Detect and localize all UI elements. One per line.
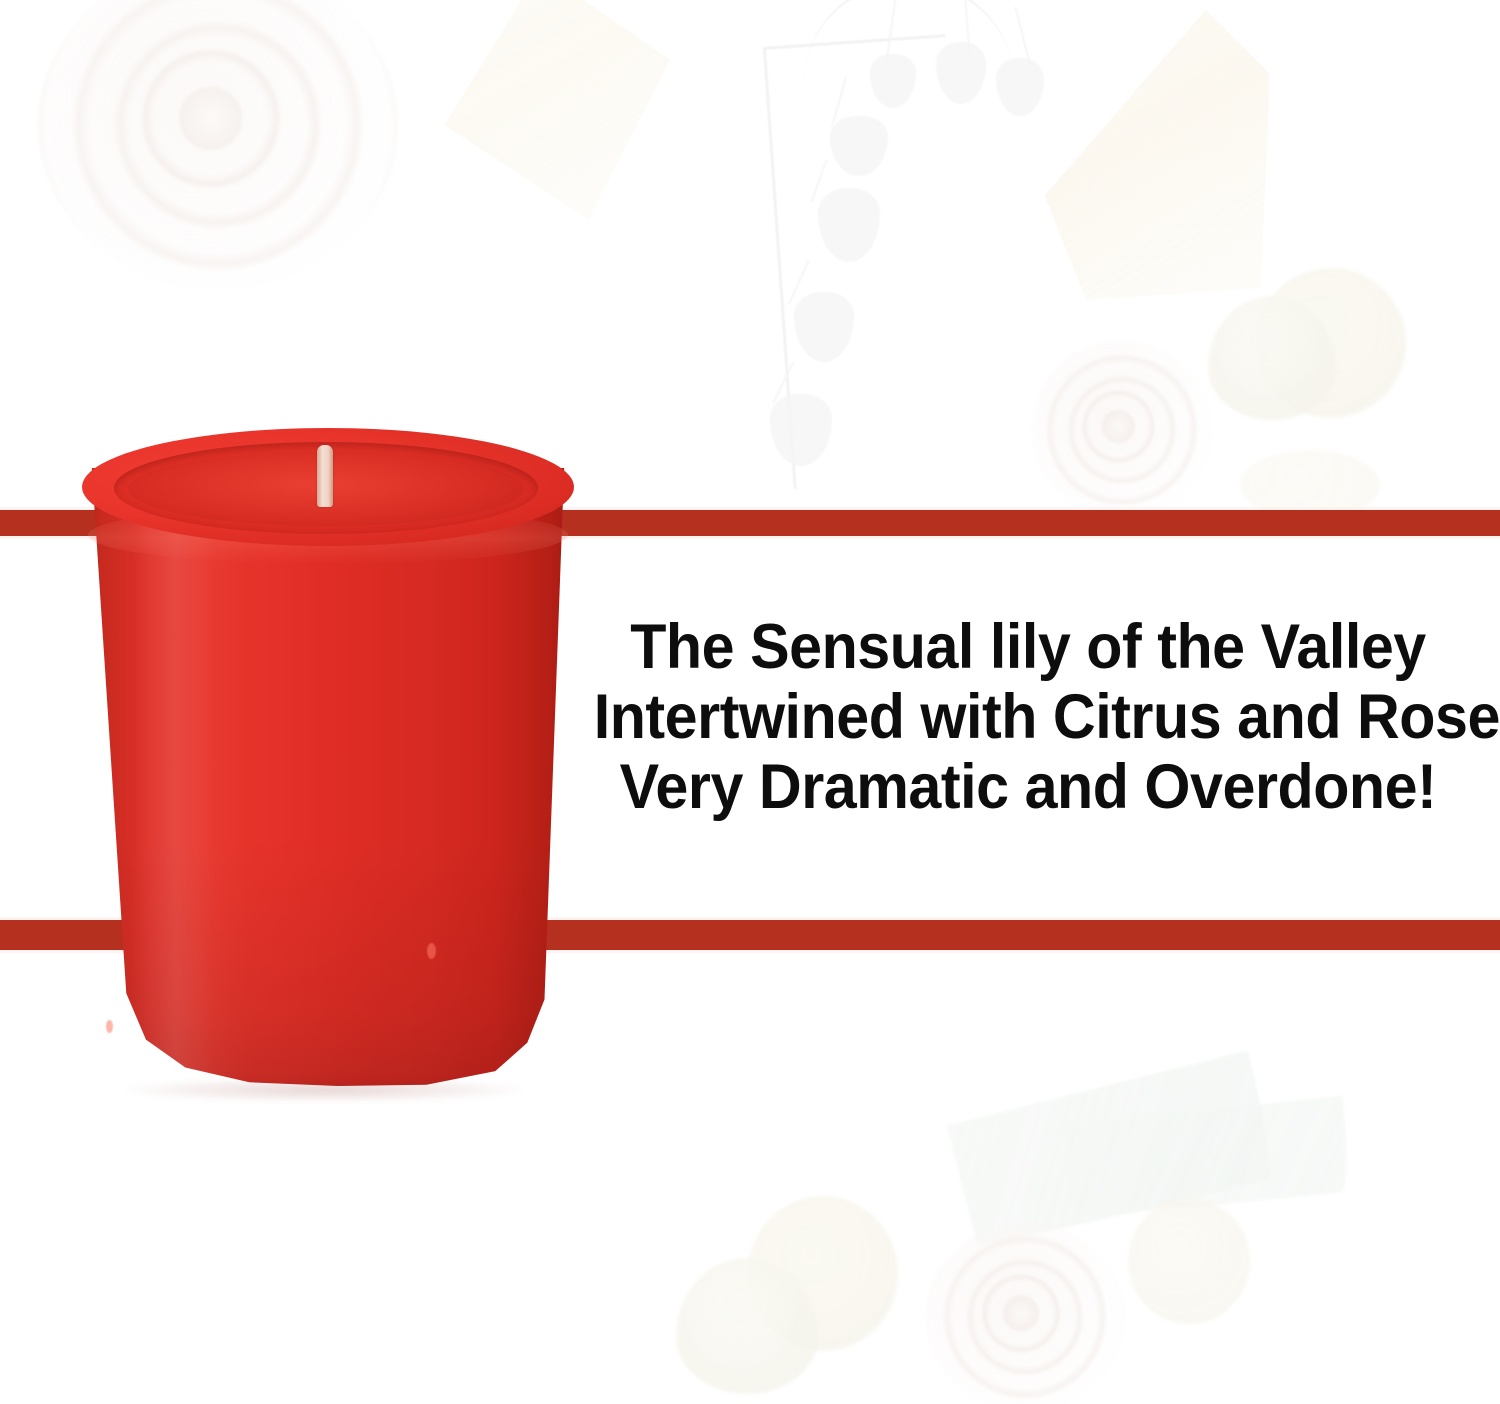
rose-watermark-top-left: [38, 0, 398, 290]
citrus-cup-watermark-right: [1208, 296, 1336, 420]
citrus-round-watermark-bottom: [748, 1196, 898, 1351]
caption-line-1: The Sensual lily of the Valley: [594, 612, 1463, 682]
caption-line-2: Intertwined with Citrus and Rose.: [594, 682, 1463, 752]
lily-leaf-watermark-bottom-2: [1064, 1096, 1353, 1221]
citrus-round-watermark-right: [1256, 268, 1406, 418]
caption-text-block: The Sensual lily of the Valley Intertwin…: [594, 612, 1463, 822]
candle-wax-blemish-1: [427, 943, 436, 959]
product-image-canvas: The Sensual lily of the Valley Intertwin…: [0, 0, 1500, 1404]
citrus-round-watermark-bottom-right: [1128, 1198, 1250, 1324]
lily-leaf-watermark-bottom: [947, 1050, 1279, 1251]
lily-of-the-valley-watermark: [760, 0, 1100, 540]
citrus-cup-watermark-bottom: [676, 1258, 818, 1394]
rose-watermark-right: [1032, 340, 1212, 520]
caption-line-3: Very Dramatic and Overdone!: [594, 752, 1463, 822]
red-votive-candle: [72, 428, 584, 1096]
citrus-wedge-watermark-top-center: [430, 0, 670, 220]
candle-wax-blemish-2: [106, 1020, 113, 1033]
candle-ground-shadow: [124, 1078, 524, 1102]
citrus-wedge-watermark-top-right: [1040, 10, 1270, 300]
rose-watermark-bottom: [926, 1222, 1124, 1404]
candle-wick: [317, 445, 333, 507]
